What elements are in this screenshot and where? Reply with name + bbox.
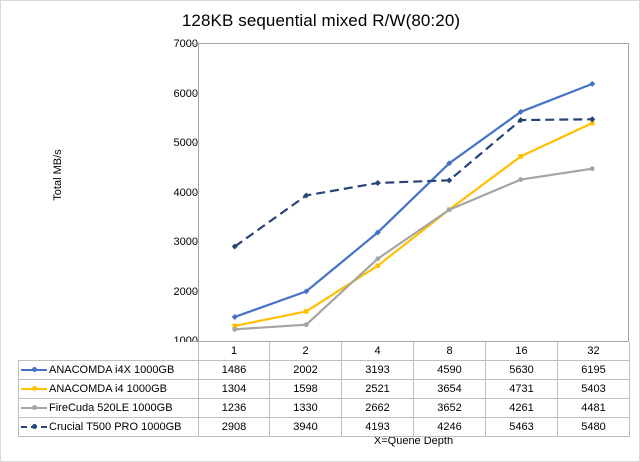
y-tick-mark xyxy=(192,193,197,194)
chart-container: 128KB sequential mixed R/W(80:20) Total … xyxy=(0,0,640,462)
table-cell: 1236 xyxy=(199,399,270,418)
legend-key-icon xyxy=(21,422,47,432)
y-axis-title: Total MB/s xyxy=(52,105,64,245)
plot-svg xyxy=(199,44,628,341)
table-cell: 5463 xyxy=(486,418,558,437)
table-cell: 1598 xyxy=(270,380,342,399)
legend-label: Crucial T500 PRO 1000GB xyxy=(49,421,181,433)
y-tick-mark xyxy=(192,143,197,144)
data-point-s3-x4 xyxy=(447,207,452,212)
legend-label: ANACOMDA i4 1000GB xyxy=(49,383,167,395)
table-cell: 3193 xyxy=(342,361,414,380)
data-point-s3-x6 xyxy=(590,166,595,171)
table-cell: 5630 xyxy=(486,361,558,380)
table-cell: 1330 xyxy=(270,399,342,418)
chart-title: 128KB sequential mixed R/W(80:20) xyxy=(1,11,640,31)
table-cell: 5480 xyxy=(558,418,630,437)
legend-key-icon xyxy=(21,403,47,413)
y-tick-mark xyxy=(192,44,197,45)
table-cell: 3940 xyxy=(270,418,342,437)
table-row: ANACOMDA i4X 1000GB148620023193459056306… xyxy=(19,361,630,380)
table-cell: 2521 xyxy=(342,380,414,399)
table-corner-cell xyxy=(19,342,199,361)
data-point-s4-x4 xyxy=(446,177,452,183)
table-cell: 1304 xyxy=(199,380,270,399)
table-cell: 2002 xyxy=(270,361,342,380)
legend-key-icon xyxy=(21,384,47,394)
data-point-s4-x3 xyxy=(375,180,381,186)
legend-label: FireCuda 520LE 1000GB xyxy=(49,402,173,414)
table-column-header: 8 xyxy=(414,342,486,361)
data-point-s2-x5 xyxy=(518,154,523,159)
legend-marker-swatch xyxy=(32,386,37,391)
legend-entry-2: ANACOMDA i4 1000GB xyxy=(19,380,199,399)
table-cell: 4246 xyxy=(414,418,486,437)
data-point-s3-x2 xyxy=(304,322,309,327)
table-cell: 4193 xyxy=(342,418,414,437)
data-point-s1-x6 xyxy=(589,81,595,87)
plot-area xyxy=(198,43,629,342)
legend-marker-swatch xyxy=(32,424,37,429)
table-cell: 4590 xyxy=(414,361,486,380)
legend-label: ANACOMDA i4X 1000GB xyxy=(49,364,174,376)
table-cell: 2908 xyxy=(199,418,270,437)
data-point-s3-x1 xyxy=(232,327,237,332)
table-cell: 4481 xyxy=(558,399,630,418)
y-tick-mark xyxy=(192,242,197,243)
y-tick-mark xyxy=(192,292,197,293)
table-cell: 5403 xyxy=(558,380,630,399)
series-line-2 xyxy=(235,123,593,326)
table-cell: 3652 xyxy=(414,399,486,418)
table-header-row: 12481632 xyxy=(19,342,630,361)
legend-entry-3: FireCuda 520LE 1000GB xyxy=(19,399,199,418)
table-cell: 3654 xyxy=(414,380,486,399)
data-point-s2-x3 xyxy=(375,263,380,268)
table-cell: 1486 xyxy=(199,361,270,380)
table-row: Crucial T500 PRO 1000GB29083940419342465… xyxy=(19,418,630,437)
legend-entry-4: Crucial T500 PRO 1000GB xyxy=(19,418,199,437)
y-tick-mark xyxy=(192,94,197,95)
data-point-s1-x1 xyxy=(232,314,238,320)
table-column-header: 4 xyxy=(342,342,414,361)
table-column-header: 16 xyxy=(486,342,558,361)
legend-marker-swatch xyxy=(32,367,37,372)
table-cell: 4261 xyxy=(486,399,558,418)
legend-key-icon xyxy=(21,365,47,375)
table-cell: 6195 xyxy=(558,361,630,380)
table-column-header: 1 xyxy=(199,342,270,361)
data-point-s3-x3 xyxy=(375,256,380,261)
table-row: ANACOMDA i4 1000GB1304159825213654473154… xyxy=(19,380,630,399)
table-column-header: 2 xyxy=(270,342,342,361)
series-line-4 xyxy=(235,119,593,246)
data-point-s3-x5 xyxy=(518,177,523,182)
legend-entry-1: ANACOMDA i4X 1000GB xyxy=(19,361,199,380)
table-cell: 4731 xyxy=(486,380,558,399)
legend-marker-swatch xyxy=(32,405,37,410)
table-cell: 2662 xyxy=(342,399,414,418)
series-line-3 xyxy=(235,169,593,330)
table-row: FireCuda 520LE 1000GB1236133026623652426… xyxy=(19,399,630,418)
table-column-header: 32 xyxy=(558,342,630,361)
data-point-s2-x2 xyxy=(304,309,309,314)
data-table: 12481632ANACOMDA i4X 1000GB1486200231934… xyxy=(18,342,630,437)
